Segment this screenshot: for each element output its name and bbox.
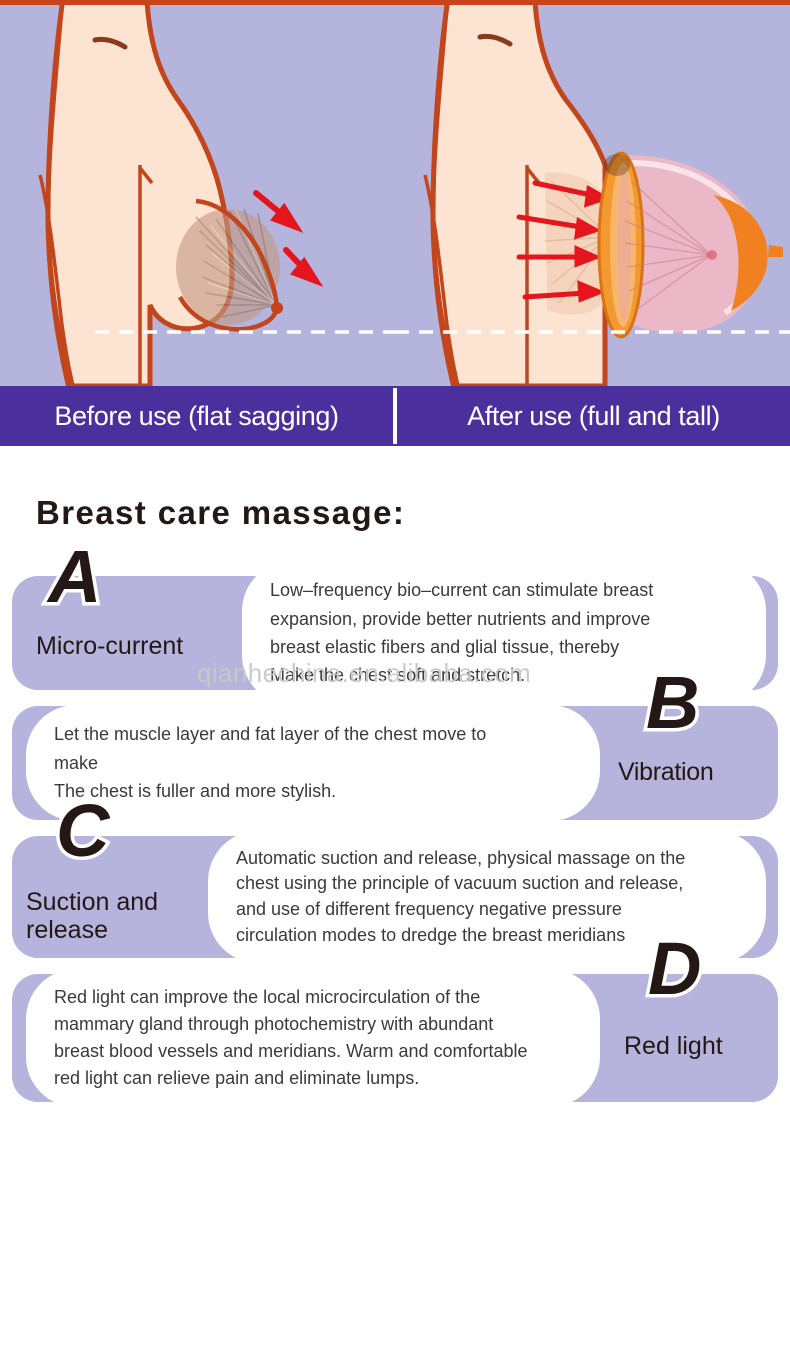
card-title-micro-current: Micro-current: [36, 632, 183, 660]
card-title-vibration: Vibration: [618, 758, 714, 786]
card-description-a: Low–frequency bio–current can stimulate …: [270, 576, 653, 690]
illustration-block: [0, 0, 790, 386]
feature-card-list: A Micro-current Low–frequency bio–curren…: [0, 576, 790, 1102]
label-zone-a: A Micro-current: [12, 576, 242, 690]
label-zone-d: D Red light: [600, 974, 778, 1102]
card-letter-a: A: [48, 540, 101, 614]
after-use-illustration: [395, 5, 790, 386]
card-description-d: Red light can improve the local microcir…: [54, 984, 528, 1092]
caption-before-use: Before use (flat sagging): [0, 386, 393, 446]
text-bubble-d: Red light can improve the local microcir…: [26, 969, 600, 1107]
card-description-b: Let the muscle layer and fat layer of th…: [54, 720, 486, 805]
page-title: Breast care massage:: [36, 494, 790, 532]
feature-card-red-light: D Red light Red light can improve the lo…: [12, 974, 778, 1102]
feature-card-micro-current: A Micro-current Low–frequency bio–curren…: [12, 576, 778, 690]
caption-after-use: After use (full and tall): [397, 386, 790, 446]
feature-card-suction-and-release: C Suction and release Automatic suction …: [12, 836, 778, 958]
card-description-c: Automatic suction and release, physical …: [236, 846, 685, 948]
card-title-suction-and-release: Suction and release: [26, 888, 158, 944]
label-zone-c: C Suction and release: [12, 836, 208, 958]
comparison-caption-banner: Before use (flat sagging) After use (ful…: [0, 386, 790, 446]
text-bubble-a: Low–frequency bio–current can stimulate …: [242, 561, 766, 705]
before-use-illustration: [0, 5, 395, 386]
text-bubble-c: Automatic suction and release, physical …: [208, 831, 766, 963]
text-bubble-b: Let the muscle layer and fat layer of th…: [26, 705, 600, 820]
after-use-figure-svg: [395, 5, 790, 386]
label-zone-b: B Vibration: [600, 706, 778, 820]
card-title-red-light: Red light: [624, 1032, 723, 1060]
feature-card-vibration: B Vibration Let the muscle layer and fat…: [12, 706, 778, 820]
before-use-figure-svg: [0, 5, 395, 386]
